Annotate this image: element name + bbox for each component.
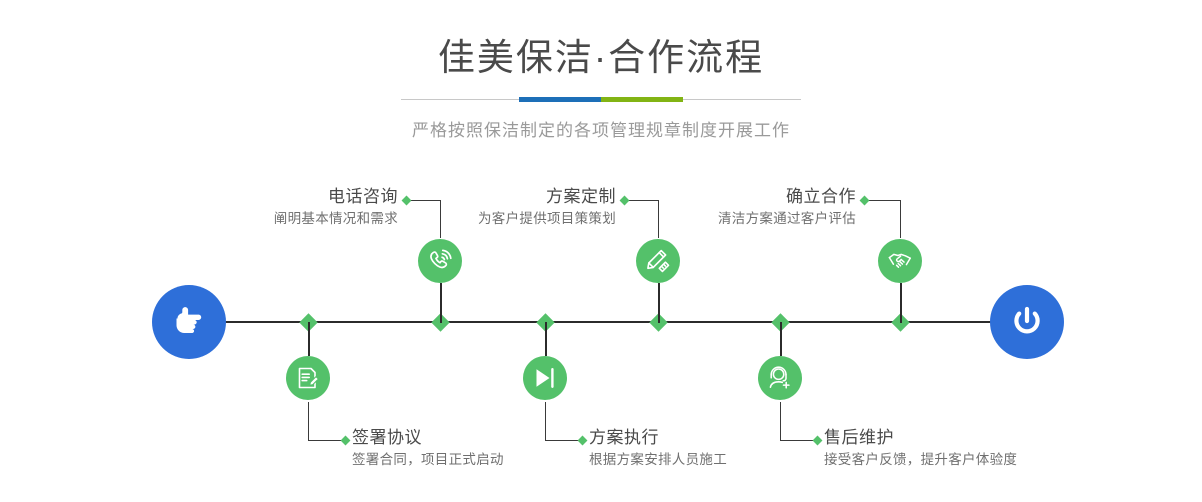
thumbs-up-pointing-hand-icon bbox=[169, 302, 209, 342]
step-node-5[interactable] bbox=[878, 239, 922, 283]
step-title-2: 签署协议 bbox=[352, 427, 612, 449]
power-icon bbox=[1006, 301, 1048, 343]
stem-step-4 bbox=[545, 322, 547, 356]
divider-segment-blue bbox=[519, 97, 601, 102]
step-desc-4: 根据方案安排人员施工 bbox=[589, 449, 849, 470]
cooperation-process-infographic: 佳美保洁·合作流程 严格按照保洁制定的各项管理规章制度开展工作 bbox=[0, 0, 1202, 502]
play-forward-icon bbox=[532, 365, 558, 391]
step-label-2: 签署协议 签署合同，项目正式启动 bbox=[352, 427, 612, 470]
timeline-start-node bbox=[152, 285, 226, 359]
handshake-icon bbox=[887, 248, 914, 275]
pencil-ruler-icon bbox=[645, 248, 671, 274]
step-node-1[interactable] bbox=[418, 239, 462, 283]
step-label-6: 售后维护 接受客户反馈，提升客户体验度 bbox=[824, 427, 1124, 470]
stem-step-3 bbox=[658, 283, 660, 323]
document-sign-icon bbox=[295, 365, 321, 391]
lead-dot-step-5 bbox=[860, 196, 870, 206]
step-node-6[interactable] bbox=[758, 356, 802, 400]
lead-line-vertical-step-2 bbox=[308, 402, 309, 440]
page-title: 佳美保洁·合作流程 bbox=[0, 0, 1202, 80]
divider-segment-green bbox=[601, 97, 683, 102]
step-title-1: 电话咨询 bbox=[153, 186, 398, 208]
lead-line-horizontal-step-5 bbox=[866, 200, 901, 201]
stem-step-2 bbox=[308, 322, 310, 356]
step-node-4[interactable] bbox=[523, 356, 567, 400]
step-title-5: 确立合作 bbox=[611, 186, 856, 208]
lead-line-horizontal-step-2 bbox=[308, 440, 344, 441]
header: 佳美保洁·合作流程 严格按照保洁制定的各项管理规章制度开展工作 bbox=[0, 0, 1202, 141]
step-desc-1: 阐明基本情况和需求 bbox=[153, 208, 398, 229]
step-label-4: 方案执行 根据方案安排人员施工 bbox=[589, 427, 849, 470]
step-title-4: 方案执行 bbox=[589, 427, 849, 449]
stem-step-5 bbox=[900, 283, 902, 323]
step-label-1: 电话咨询 阐明基本情况和需求 bbox=[153, 186, 398, 229]
step-desc-2: 签署合同，项目正式启动 bbox=[352, 449, 612, 470]
step-title-6: 售后维护 bbox=[824, 427, 1124, 449]
lead-line-vertical-step-5 bbox=[900, 200, 901, 238]
timeline-end-node bbox=[990, 285, 1064, 359]
page-subtitle: 严格按照保洁制定的各项管理规章制度开展工作 bbox=[0, 116, 1202, 141]
stem-step-1 bbox=[440, 283, 442, 323]
lead-dot-step-2 bbox=[341, 436, 351, 446]
step-desc-5: 清洁方案通过客户评估 bbox=[611, 208, 856, 229]
step-node-2[interactable] bbox=[286, 356, 330, 400]
step-label-5: 确立合作 清洁方案通过客户评估 bbox=[611, 186, 856, 229]
step-label-3: 方案定制 为客户提供项目策策划 bbox=[371, 186, 616, 229]
phone-call-icon bbox=[427, 248, 453, 274]
step-title-3: 方案定制 bbox=[371, 186, 616, 208]
title-divider bbox=[401, 94, 801, 106]
step-node-3[interactable] bbox=[636, 239, 680, 283]
step-desc-6: 接受客户反馈，提升客户体验度 bbox=[824, 449, 1124, 470]
stem-step-6 bbox=[780, 322, 782, 356]
step-desc-3: 为客户提供项目策策划 bbox=[371, 208, 616, 229]
headset-support-add-icon bbox=[767, 365, 793, 391]
